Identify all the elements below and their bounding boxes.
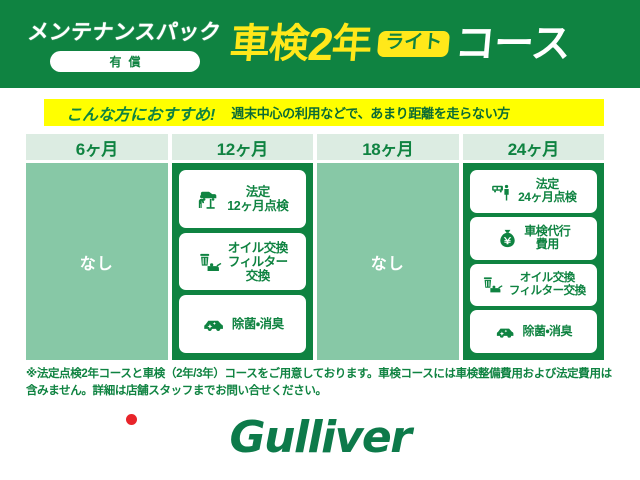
money-bag-yen-icon: [496, 227, 519, 250]
service-card-label: オイル交換フィルター交換: [509, 272, 586, 298]
column-header: 12ヶ月: [172, 134, 314, 160]
column-header: 18ヶ月: [317, 134, 459, 160]
service-schedule-table: 6ヶ月なし12ヶ月法定12ヶ月点検オイル交換フィルター交換除菌・消臭18ヶ月なし…: [26, 134, 604, 360]
headline-block: 車検 2 年 ライト コース: [230, 21, 640, 67]
paid-badge: 有償: [50, 51, 200, 72]
column-header: 24ヶ月: [463, 134, 605, 160]
service-card-label-line: 法定: [227, 185, 288, 199]
headline-course: コース: [453, 24, 571, 64]
column-header-label: 12ヶ月: [217, 135, 268, 160]
headline-years-unit: 年: [330, 24, 372, 64]
paid-badge-label: 有償: [102, 53, 147, 70]
table-column-24ヶ月: 24ヶ月法定24ヶ月点検車検代行費用オイル交換フィルター交換除菌・消臭: [463, 134, 605, 360]
car-inspector-icon: [490, 180, 513, 203]
advertisement-page: メンテナンスパック 有償 車検 2 年 ライト コース こんな方におすすめ! 週…: [0, 0, 640, 480]
service-card-label-line: オイル交換: [228, 241, 288, 255]
service-card-label-line: 費用: [524, 238, 570, 251]
oil-filter-icon: [481, 273, 504, 296]
service-card: オイル交換フィルター交換: [470, 264, 598, 307]
maintenance-pack-block: メンテナンスパック 有償: [0, 16, 228, 72]
service-card-label-line: 除菌・消臭: [232, 317, 284, 331]
brand-logo: Gulliver: [0, 412, 640, 463]
service-card: オイル交換フィルター交換: [179, 233, 307, 291]
headline-shaken: 車検: [228, 24, 309, 64]
service-card: 車検代行費用: [470, 217, 598, 260]
service-card-label-line: フィルター交換: [509, 285, 586, 298]
column-header: 6ヶ月: [26, 134, 168, 160]
service-card: 法定24ヶ月点検: [470, 170, 598, 213]
service-card-label: 法定12ヶ月点検: [227, 185, 288, 213]
table-column-18ヶ月: 18ヶ月なし: [317, 134, 459, 360]
car-sparkle-icon: [494, 320, 517, 343]
recommendation-heading: こんな方におすすめ!: [66, 101, 215, 125]
table-column-6ヶ月: 6ヶ月なし: [26, 134, 168, 360]
maintenance-pack-title: メンテナンスパック: [27, 16, 224, 46]
recommendation-description: 週末中心の利用などで、あまり距離を走らない方: [231, 103, 510, 122]
car-lift-icon: [196, 186, 222, 212]
column-header-label: 6ヶ月: [76, 135, 118, 160]
service-card-label: オイル交換フィルター交換: [228, 241, 288, 283]
column-empty-cell: なし: [26, 163, 168, 360]
service-card-label: 除菌・消臭: [522, 325, 572, 338]
service-card-label-line: フィルター: [228, 255, 288, 269]
brand-logo-text: Gulliver: [230, 412, 411, 463]
service-card-label-line: 除菌・消臭: [522, 325, 572, 338]
service-card-label-line: 交換: [228, 269, 288, 283]
oil-filter-icon: [197, 249, 223, 275]
disclaimer-text: ※法定点検2年コースと車検（2年/3年）コースをご用意しております。車検コースに…: [26, 366, 614, 399]
service-card-label-line: オイル交換: [509, 272, 586, 285]
headline-years-number: 2: [306, 21, 334, 67]
service-card: 法定12ヶ月点検: [179, 170, 307, 228]
car-sparkle-icon: [201, 311, 227, 337]
empty-label: なし: [371, 250, 405, 274]
header-banner: メンテナンスパック 有償 車検 2 年 ライト コース: [0, 0, 640, 88]
lite-badge: ライト: [376, 31, 449, 57]
service-card-label-line: 24ヶ月点検: [518, 191, 576, 204]
column-empty-cell: なし: [317, 163, 459, 360]
table-column-12ヶ月: 12ヶ月法定12ヶ月点検オイル交換フィルター交換除菌・消臭: [172, 134, 314, 360]
column-service-list: 法定12ヶ月点検オイル交換フィルター交換除菌・消臭: [172, 163, 314, 360]
empty-label: なし: [80, 250, 114, 274]
service-card-label: 車検代行費用: [524, 225, 570, 252]
service-card-label-line: 12ヶ月点検: [227, 199, 288, 213]
column-header-label: 24ヶ月: [508, 135, 559, 160]
service-card: 除菌・消臭: [179, 295, 307, 353]
recommendation-bar: こんな方におすすめ! 週末中心の利用などで、あまり距離を走らない方: [44, 99, 604, 126]
column-service-list: 法定24ヶ月点検車検代行費用オイル交換フィルター交換除菌・消臭: [463, 163, 605, 360]
column-header-label: 18ヶ月: [362, 135, 413, 160]
service-card: 除菌・消臭: [470, 310, 598, 353]
service-card-label: 法定24ヶ月点検: [518, 178, 576, 205]
service-card-label: 除菌・消臭: [232, 317, 284, 331]
logo-dot-icon: [126, 414, 137, 425]
